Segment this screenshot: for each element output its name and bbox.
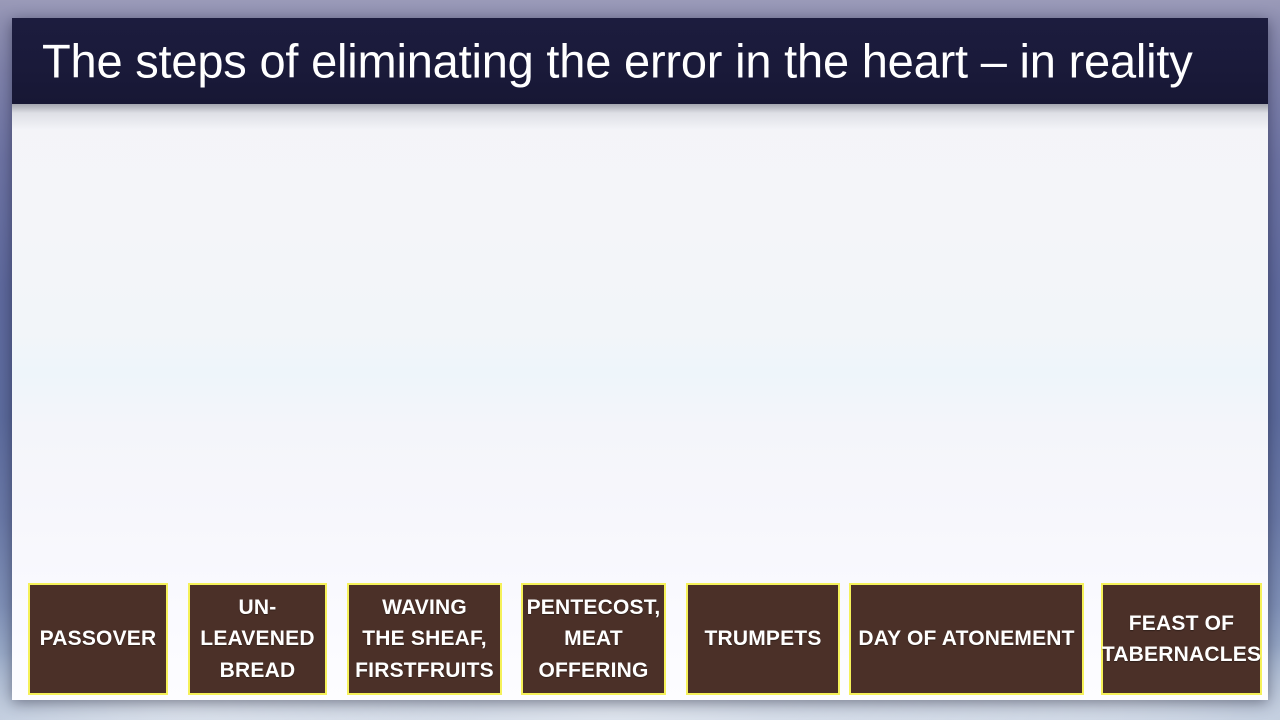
feast-box[interactable]: UN- LEAVENED BREAD (188, 583, 327, 695)
slide-title-bar: The steps of eliminating the error in th… (12, 18, 1268, 104)
feast-box[interactable]: TRUMPETS (686, 583, 840, 695)
feast-box[interactable]: DAY OF ATONEMENT (849, 583, 1084, 695)
feast-box-row: PASSOVERUN- LEAVENED BREADWAVING THE SHE… (12, 583, 1268, 695)
page-title: The steps of eliminating the error in th… (42, 36, 1193, 85)
feast-box-label: DAY OF ATONEMENT (852, 623, 1080, 655)
feast-box[interactable]: WAVING THE SHEAF, FIRSTFRUITS (347, 583, 502, 695)
slide-canvas: The steps of eliminating the error in th… (12, 18, 1268, 700)
feast-box-label: UN- LEAVENED BREAD (194, 592, 320, 687)
feast-box-label: WAVING THE SHEAF, FIRSTFRUITS (349, 592, 500, 687)
slide-backdrop: The steps of eliminating the error in th… (0, 0, 1280, 720)
title-bar-shadow (12, 104, 1268, 130)
feast-box-label: PENTECOST, MEAT OFFERING (521, 592, 667, 687)
feast-box-label: FEAST OF TABERNACLES (1096, 608, 1267, 671)
feast-box-label: TRUMPETS (698, 623, 827, 655)
feast-box[interactable]: PENTECOST, MEAT OFFERING (521, 583, 666, 695)
feast-box-label: PASSOVER (34, 623, 163, 655)
feast-box[interactable]: FEAST OF TABERNACLES (1101, 583, 1262, 695)
feast-box[interactable]: PASSOVER (28, 583, 168, 695)
